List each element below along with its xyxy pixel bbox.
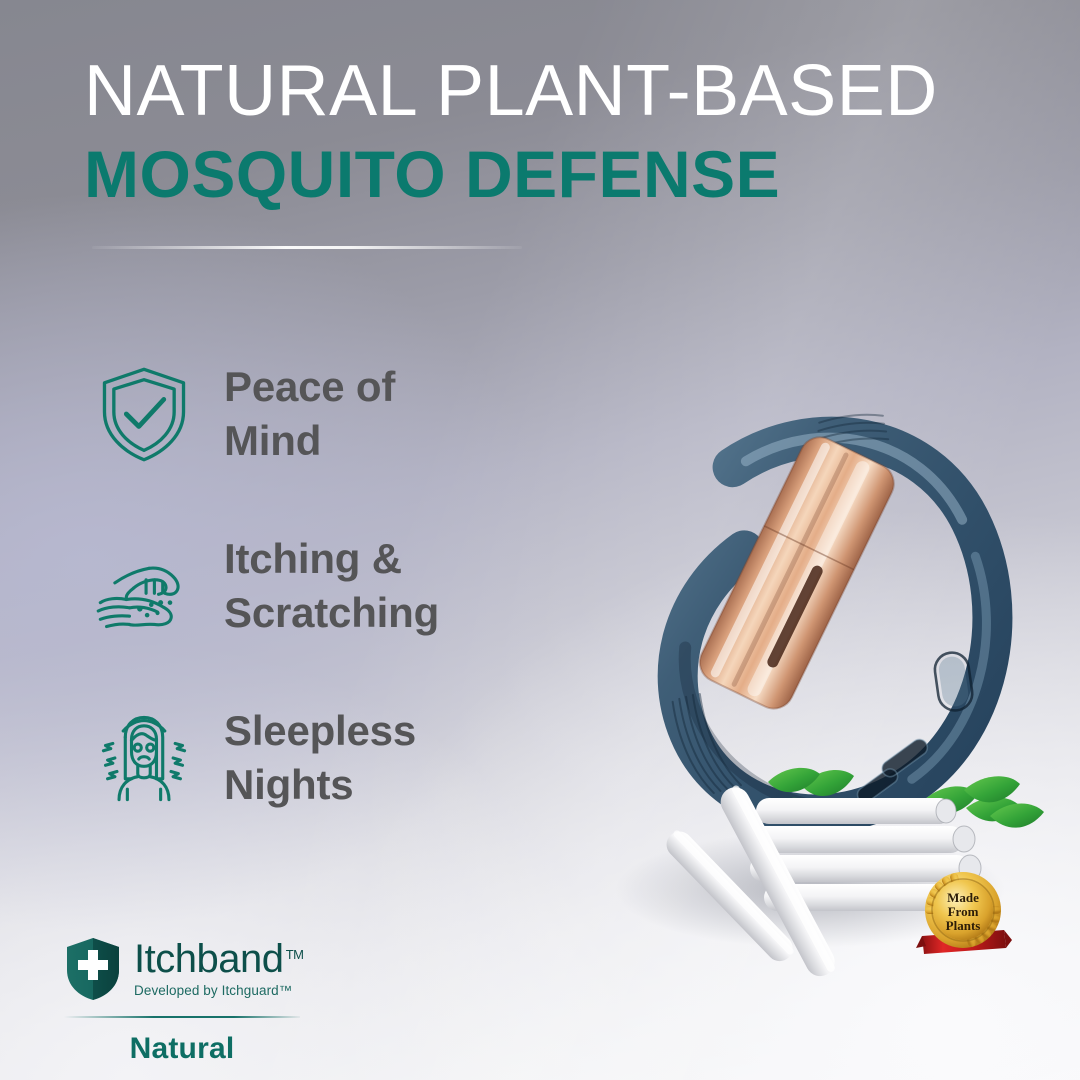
feature-item: Sleepless Nights bbox=[92, 704, 562, 812]
feature-item: Itching & Scratching bbox=[92, 532, 562, 640]
headline-line-1: NATURAL PLANT-BASED bbox=[84, 52, 1014, 130]
product-variant-label: Natural bbox=[64, 1032, 300, 1066]
headline-line-2: MOSQUITO DEFENSE bbox=[84, 138, 1014, 210]
headline-divider bbox=[92, 246, 522, 249]
logo-divider bbox=[64, 1016, 300, 1018]
feature-item: Peace of Mind bbox=[92, 360, 562, 468]
feature-label: Itching & Scratching bbox=[224, 532, 494, 640]
headline: NATURAL PLANT-BASED MOSQUITO DEFENSE bbox=[84, 52, 1014, 210]
feature-label: Peace of Mind bbox=[224, 360, 494, 468]
brand-name: Itchband TM bbox=[134, 938, 283, 980]
feature-label: Sleepless Nights bbox=[224, 704, 494, 812]
shield-check-icon bbox=[92, 362, 196, 466]
sleepless-woman-icon bbox=[92, 706, 196, 810]
svg-text:From: From bbox=[948, 904, 979, 919]
feature-list: Peace of Mind bbox=[92, 360, 562, 812]
shield-cross-icon bbox=[64, 936, 122, 1002]
brand-logo: Itchband TM Developed by Itchguard™ Natu… bbox=[64, 934, 364, 1066]
brand-tagline: Developed by Itchguard™ bbox=[134, 982, 292, 1000]
badge-line-1: Made bbox=[947, 890, 979, 905]
brand-name-text: Itchband bbox=[134, 937, 283, 981]
made-from-plants-badge: Made From Plants bbox=[908, 862, 1018, 962]
trademark-symbol: TM bbox=[286, 934, 304, 976]
hand-scratching-icon bbox=[92, 534, 196, 638]
svg-text:Plants: Plants bbox=[946, 918, 981, 933]
